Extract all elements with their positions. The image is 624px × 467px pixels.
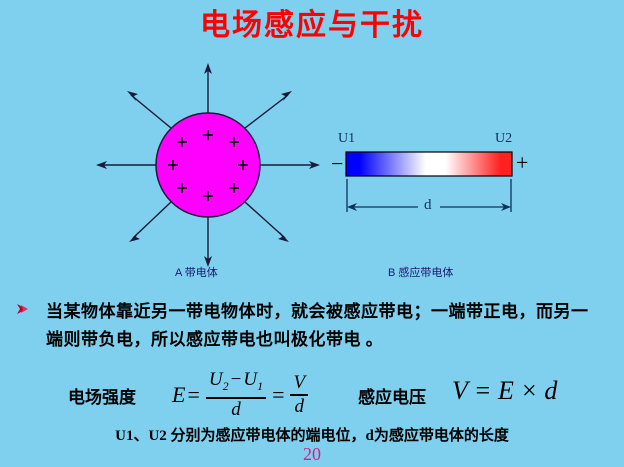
formula-equals-2: = [270, 382, 286, 408]
body-line-2: 端则带负电，所以感应带电也叫极化带电 。 [46, 326, 616, 354]
field-line-up-left [131, 95, 171, 128]
fraction-numerator-2: V [290, 373, 308, 394]
minus-sign: − [331, 153, 343, 175]
num-u2: U [209, 369, 223, 390]
plus-sign: + [516, 152, 528, 174]
field-line-up-right [245, 95, 288, 128]
formula-lhs-e: E [172, 382, 185, 408]
formula-induced-voltage: V = E × d [452, 376, 557, 406]
bottom-caption: U1、U2 分别为感应带电体的端电位，d为感应带电体的长度 [0, 424, 624, 445]
fraction-denominator-1: d [228, 399, 244, 420]
page-number: 20 [0, 444, 624, 465]
caption-induced-body: B 感应带电体 [388, 264, 453, 280]
fraction-numerator-1: U2−U1 [206, 370, 266, 397]
field-line-down-right [245, 202, 285, 238]
fraction-v-over-d: V d [290, 373, 308, 417]
caption-charged-body: A 带电体 [175, 264, 218, 280]
formula-row: 电场强度 E = U2−U1 d = V d 感应电压 V = E × d [0, 370, 624, 420]
formula-field-strength: E = U2−U1 d = V d [172, 372, 312, 418]
dimension-label-d: d [424, 197, 432, 214]
slide-canvas: 电场感应与干扰 [0, 0, 624, 467]
label-u1: U1 [338, 131, 355, 147]
num-minus: − [229, 369, 244, 390]
physics-diagram [0, 55, 624, 275]
induced-body-bar [346, 152, 512, 176]
page-title: 电场感应与干扰 [0, 8, 624, 44]
fraction-denominator-2: d [292, 396, 308, 417]
body-line-1: 当某物体靠近另一带电物体时，就会被感应带电；一端带正电，而另一 [46, 298, 616, 326]
formula-label-field-strength: 电场强度 [68, 383, 136, 408]
num-u1-subscript: 1 [257, 379, 263, 393]
body-paragraph: 当某物体靠近另一带电物体时，就会被感应带电；一端带正电，而另一 端则带负电，所以… [16, 298, 616, 354]
label-u2: U2 [495, 131, 512, 147]
fraction-u-diff-over-d: U2−U1 d [206, 370, 266, 419]
formula-label-induced-voltage: 感应电压 [358, 383, 426, 408]
num-u1: U [243, 369, 257, 390]
formula-equals-1: = [185, 382, 201, 408]
num-u2-subscript: 2 [223, 379, 229, 393]
arrow-bullet-icon [16, 302, 30, 316]
field-line-down-left [133, 202, 171, 238]
